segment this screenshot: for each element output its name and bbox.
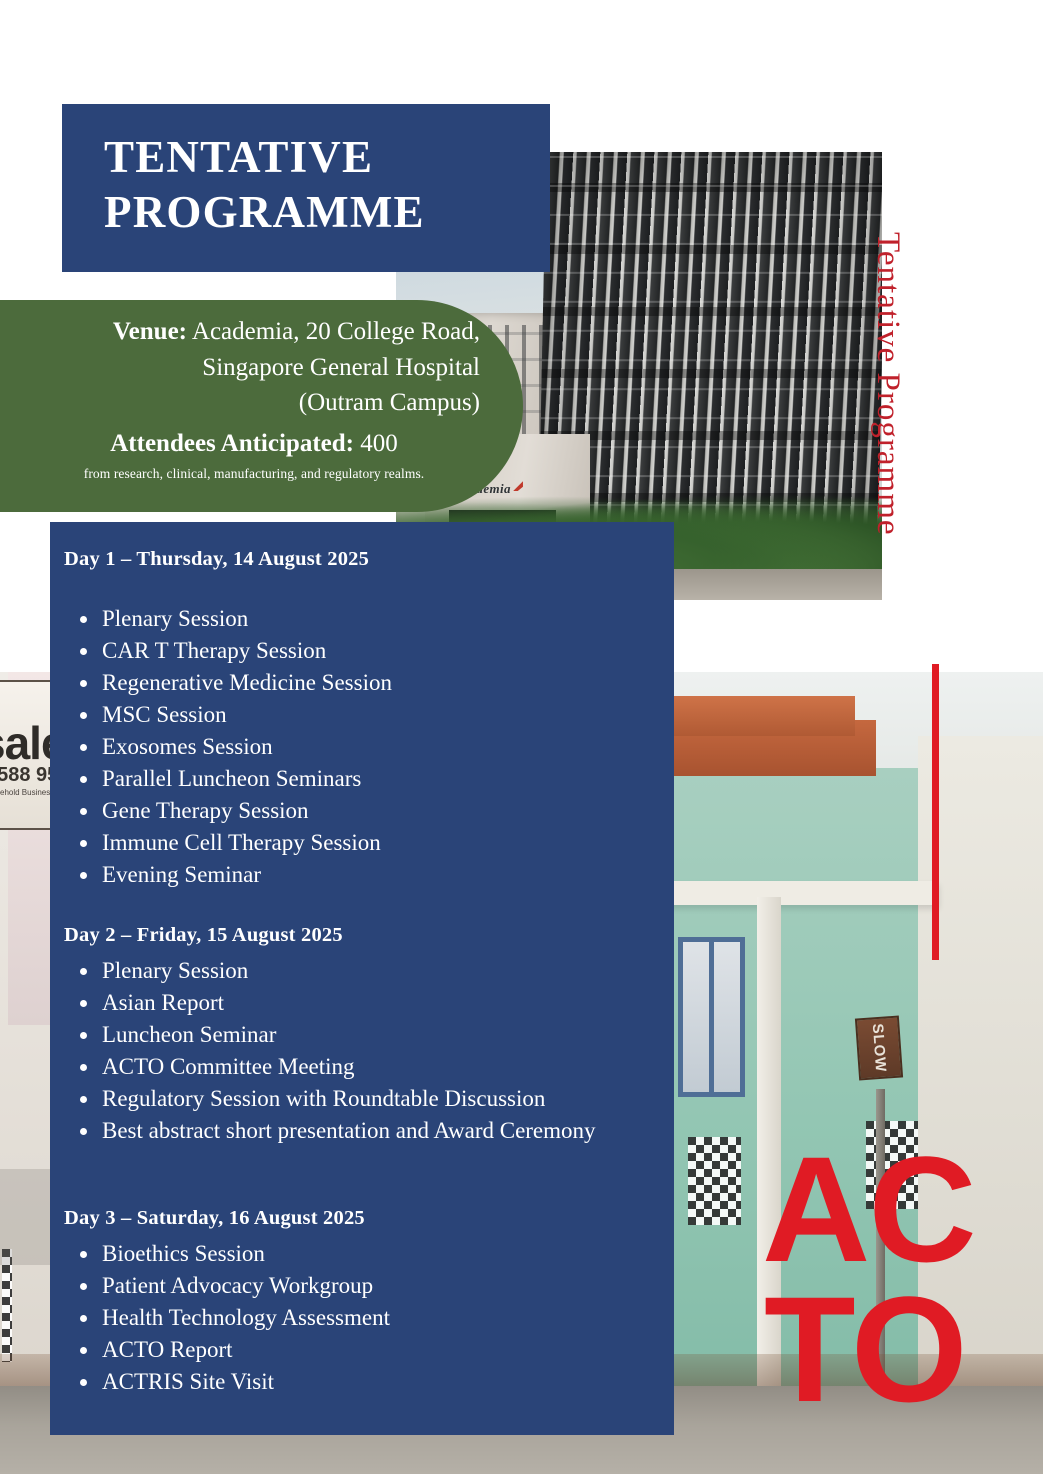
day-1-session-list: Plenary Session CAR T Therapy Session Re…	[64, 603, 664, 891]
venue-card: Venue: Academia, 20 College Road, Singap…	[0, 300, 523, 512]
page-title-line1: TENTATIVE	[104, 132, 373, 182]
list-item: Immune Cell Therapy Session	[64, 827, 664, 859]
list-item: ACTRIS Site Visit	[64, 1366, 664, 1398]
title-banner: TENTATIVE PROGRAMME	[62, 104, 550, 272]
academia-logo-icon	[513, 481, 523, 491]
slow-sign-text: SLOW	[869, 1023, 889, 1073]
list-item: ACTO Report	[64, 1334, 664, 1366]
list-item: MSC Session	[64, 699, 664, 731]
attendees-line: Attendees Anticipated: 400	[28, 430, 480, 458]
venue-label: Venue:	[113, 318, 187, 345]
day-1-heading: Day 1 – Thursday, 14 August 2025	[64, 548, 664, 571]
acto-logo-line1: AC	[762, 1140, 975, 1280]
side-label-tentative-programme: Tentative Programme	[869, 232, 906, 536]
venue-address-line3: (Outram Campus)	[299, 389, 480, 416]
venue-address: Venue: Academia, 20 College Road, Singap…	[28, 314, 480, 421]
attendees-note: from research, clinical, manufacturing, …	[28, 466, 480, 482]
list-item: CAR T Therapy Session	[64, 635, 664, 667]
day-3-heading: Day 3 – Saturday, 16 August 2025	[64, 1207, 664, 1230]
red-vertical-rule	[932, 664, 939, 960]
list-item: Regulatory Session with Roundtable Discu…	[64, 1083, 664, 1115]
day-1-section: Day 1 – Thursday, 14 August 2025 Plenary…	[64, 548, 664, 891]
day-2-section: Day 2 – Friday, 15 August 2025 Plenary S…	[64, 924, 664, 1147]
acto-logo-line2: TO	[764, 1280, 975, 1420]
attendees-label: Attendees Anticipated:	[110, 430, 354, 457]
day-3-section: Day 3 – Saturday, 16 August 2025 Bioethi…	[64, 1207, 664, 1398]
list-item: Asian Report	[64, 987, 664, 1019]
shophouse-upper-roof	[647, 696, 856, 736]
list-item: Luncheon Seminar	[64, 1019, 664, 1051]
list-item: Evening Seminar	[64, 859, 664, 891]
list-item: Regenerative Medicine Session	[64, 667, 664, 699]
day-2-heading: Day 2 – Friday, 15 August 2025	[64, 924, 664, 947]
list-item: Best abstract short presentation and Awa…	[64, 1115, 664, 1147]
left-tile-panel	[2, 1249, 11, 1361]
list-item: Plenary Session	[64, 955, 664, 987]
list-item: Exosomes Session	[64, 731, 664, 763]
page-title-line2: PROGRAMME	[104, 187, 425, 237]
acto-logo-wordmark: AC TO	[762, 1140, 975, 1419]
programme-card: Day 1 – Thursday, 14 August 2025 Plenary…	[50, 522, 674, 1435]
list-item: Gene Therapy Session	[64, 795, 664, 827]
day-3-session-list: Bioethics Session Patient Advocacy Workg…	[64, 1238, 664, 1398]
list-item: Plenary Session	[64, 603, 664, 635]
list-item: Health Technology Assessment	[64, 1302, 664, 1334]
poster-canvas: Academia SLOW sale 9588 9594 Freehold Bu…	[0, 0, 1043, 1474]
venue-address-line2: Singapore General Hospital	[202, 354, 480, 381]
page-title: TENTATIVE PROGRAMME	[104, 130, 425, 240]
list-item: ACTO Committee Meeting	[64, 1051, 664, 1083]
shophouse-window	[678, 937, 745, 1097]
list-item: Patient Advocacy Workgroup	[64, 1270, 664, 1302]
attendees-value: 400	[354, 430, 398, 457]
day-2-session-list: Plenary Session Asian Report Luncheon Se…	[64, 955, 664, 1147]
slow-street-sign: SLOW	[855, 1015, 903, 1080]
venue-address-line1: Academia, 20 College Road,	[187, 318, 480, 345]
list-item: Parallel Luncheon Seminars	[64, 763, 664, 795]
peranakan-tile-panel	[688, 1137, 740, 1225]
list-item: Bioethics Session	[64, 1238, 664, 1270]
